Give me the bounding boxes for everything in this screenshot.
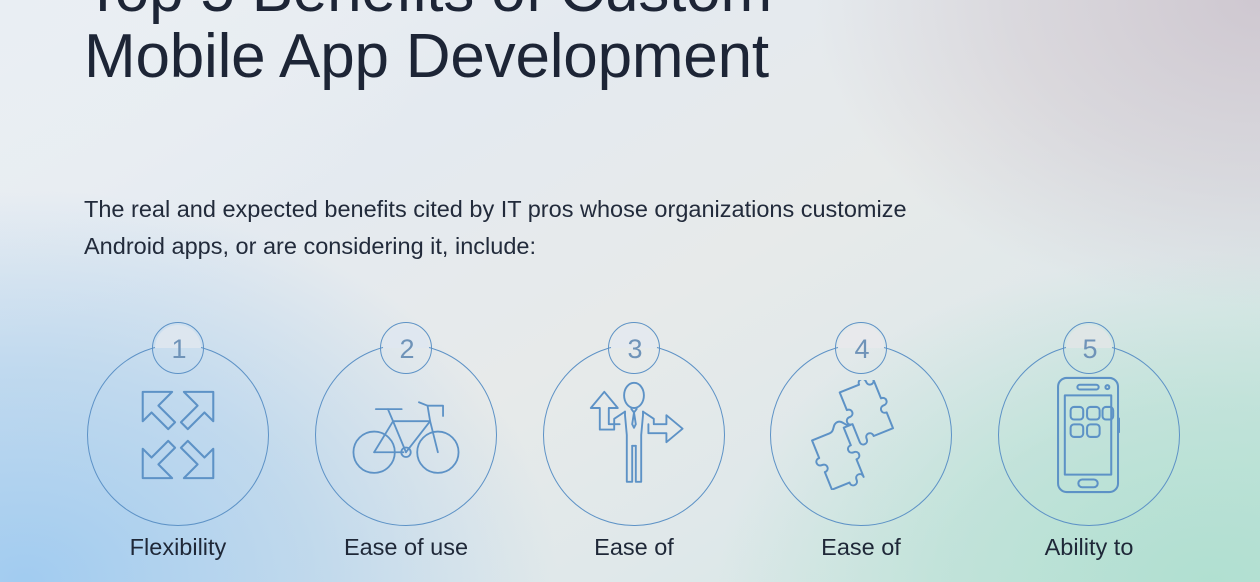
benefit-item-3[interactable]: 3 bbox=[520, 322, 748, 582]
benefit-circle-5: 5 bbox=[998, 322, 1180, 512]
benefit-badge-2: 2 bbox=[380, 322, 432, 374]
benefit-circle-3: 3 bbox=[543, 322, 725, 512]
benefit-label-3: Ease of bbox=[520, 532, 748, 562]
benefit-item-2[interactable]: 2 bbox=[292, 322, 520, 582]
benefit-label-1: Flexibility bbox=[64, 532, 292, 562]
benefit-number-4: 4 bbox=[836, 323, 888, 375]
benefit-item-1[interactable]: 1 Flexibility bbox=[64, 322, 292, 582]
benefit-number-2: 2 bbox=[381, 323, 433, 375]
benefit-circle-4: 4 bbox=[770, 322, 952, 512]
benefits-row: 1 Flexibility bbox=[0, 322, 1260, 582]
benefit-badge-3: 3 bbox=[608, 322, 660, 374]
benefit-number-3: 3 bbox=[609, 323, 661, 375]
benefit-item-5[interactable]: 5 bbox=[975, 322, 1203, 582]
page-title-line-1: Top 5 Benefits of Custom bbox=[84, 0, 1134, 24]
subtitle-text: The real and expected benefits cited by … bbox=[84, 191, 944, 265]
benefit-label-4: Ease of bbox=[747, 532, 975, 562]
benefit-badge-5: 5 bbox=[1063, 322, 1115, 374]
benefit-badge-4: 4 bbox=[835, 322, 887, 374]
benefit-circle-2: 2 bbox=[315, 322, 497, 512]
benefit-badge-1: 1 bbox=[152, 322, 204, 374]
benefit-label-2: Ease of use bbox=[292, 532, 520, 562]
benefit-label-5: Ability to bbox=[975, 532, 1203, 562]
benefit-item-4[interactable]: 4 Ease of bbox=[747, 322, 975, 582]
infographic-canvas: Top 5 Benefits of Custom Mobile App Deve… bbox=[0, 0, 1260, 582]
page-title-line-2: Mobile App Development bbox=[84, 24, 1134, 90]
page-title: Top 5 Benefits of Custom Mobile App Deve… bbox=[84, 0, 1134, 90]
benefit-number-5: 5 bbox=[1064, 323, 1116, 375]
benefit-number-1: 1 bbox=[153, 323, 205, 375]
benefit-circle-1: 1 bbox=[87, 322, 269, 512]
